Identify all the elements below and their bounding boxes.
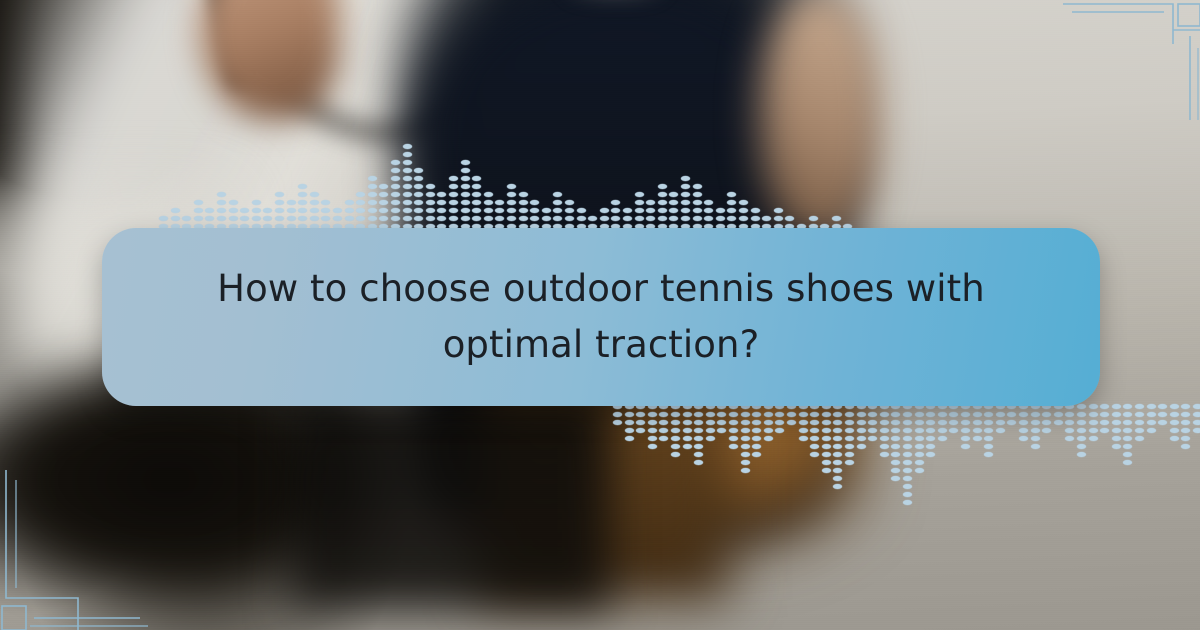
page-title: How to choose outdoor tennis shoes with …	[131, 261, 1071, 373]
title-card: How to choose outdoor tennis shoes with …	[102, 228, 1100, 406]
social-share-card: How to choose outdoor tennis shoes with …	[0, 0, 1200, 630]
